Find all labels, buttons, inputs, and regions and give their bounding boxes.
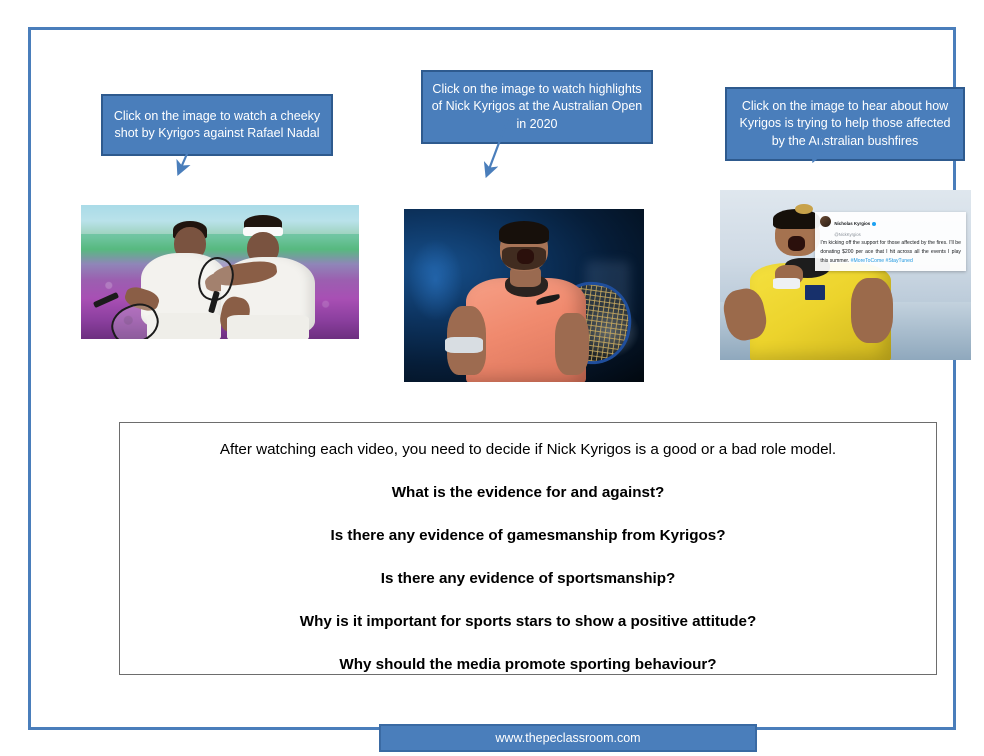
arena-light-left: [409, 240, 462, 320]
slide-frame: Click on the image to watch a cheeky sho…: [28, 27, 956, 730]
tweet-header: Nicholas Kyrgios @NickKyrgios: [820, 216, 961, 237]
tweet-avatar: [820, 216, 831, 227]
questions-box: After watching each video, you need to d…: [119, 422, 937, 675]
tweet-overlay-card: Nicholas Kyrgios @NickKyrgios I'm kickin…: [815, 212, 966, 271]
questions-intro-line: After watching each video, you need to d…: [136, 441, 920, 458]
tweet-display-name: Nicholas Kyrgios: [834, 222, 870, 227]
tweet-hashtags: #MoreToCome #StayTuned: [851, 258, 913, 264]
tweet-author-block: Nicholas Kyrgios @NickKyrgios: [834, 216, 875, 237]
verified-badge-icon: [872, 222, 876, 226]
tweet-handle: @NickKyrgios: [834, 233, 875, 237]
question-line-4: Why is it important for sports stars to …: [136, 613, 920, 630]
callout-right-video[interactable]: Click on the image to hear about how Kyr…: [725, 87, 965, 161]
australia-flag-badge: [805, 285, 825, 300]
question-line-3: Is there any evidence of sportsmanship?: [136, 570, 920, 587]
video-thumbnail-kyrgios-nadal[interactable]: [81, 205, 359, 339]
question-line-2: Is there any evidence of gamesmanship fr…: [136, 527, 920, 544]
callout-left-text: Click on the image to watch a cheeky sho…: [111, 108, 323, 143]
website-url-text: www.thepeclassroom.com: [495, 731, 640, 745]
callout-middle-video[interactable]: Click on the image to watch highlights o…: [421, 70, 653, 144]
question-line-1: What is the evidence for and against?: [136, 484, 920, 501]
video-thumbnail-bushfire-support[interactable]: Nicholas Kyrgios @NickKyrgios I'm kickin…: [720, 190, 971, 360]
video-thumbnail-australian-open-highlights[interactable]: [404, 209, 644, 382]
tweet-body: I'm kicking off the support for those af…: [820, 239, 961, 266]
callout-right-text: Click on the image to hear about how Kyr…: [735, 98, 955, 150]
website-url-bar[interactable]: www.thepeclassroom.com: [379, 724, 757, 752]
callout-left-video[interactable]: Click on the image to watch a cheeky sho…: [101, 94, 333, 156]
callout-middle-text: Click on the image to watch highlights o…: [431, 81, 643, 133]
question-line-5: Why should the media promote sporting be…: [136, 656, 920, 673]
